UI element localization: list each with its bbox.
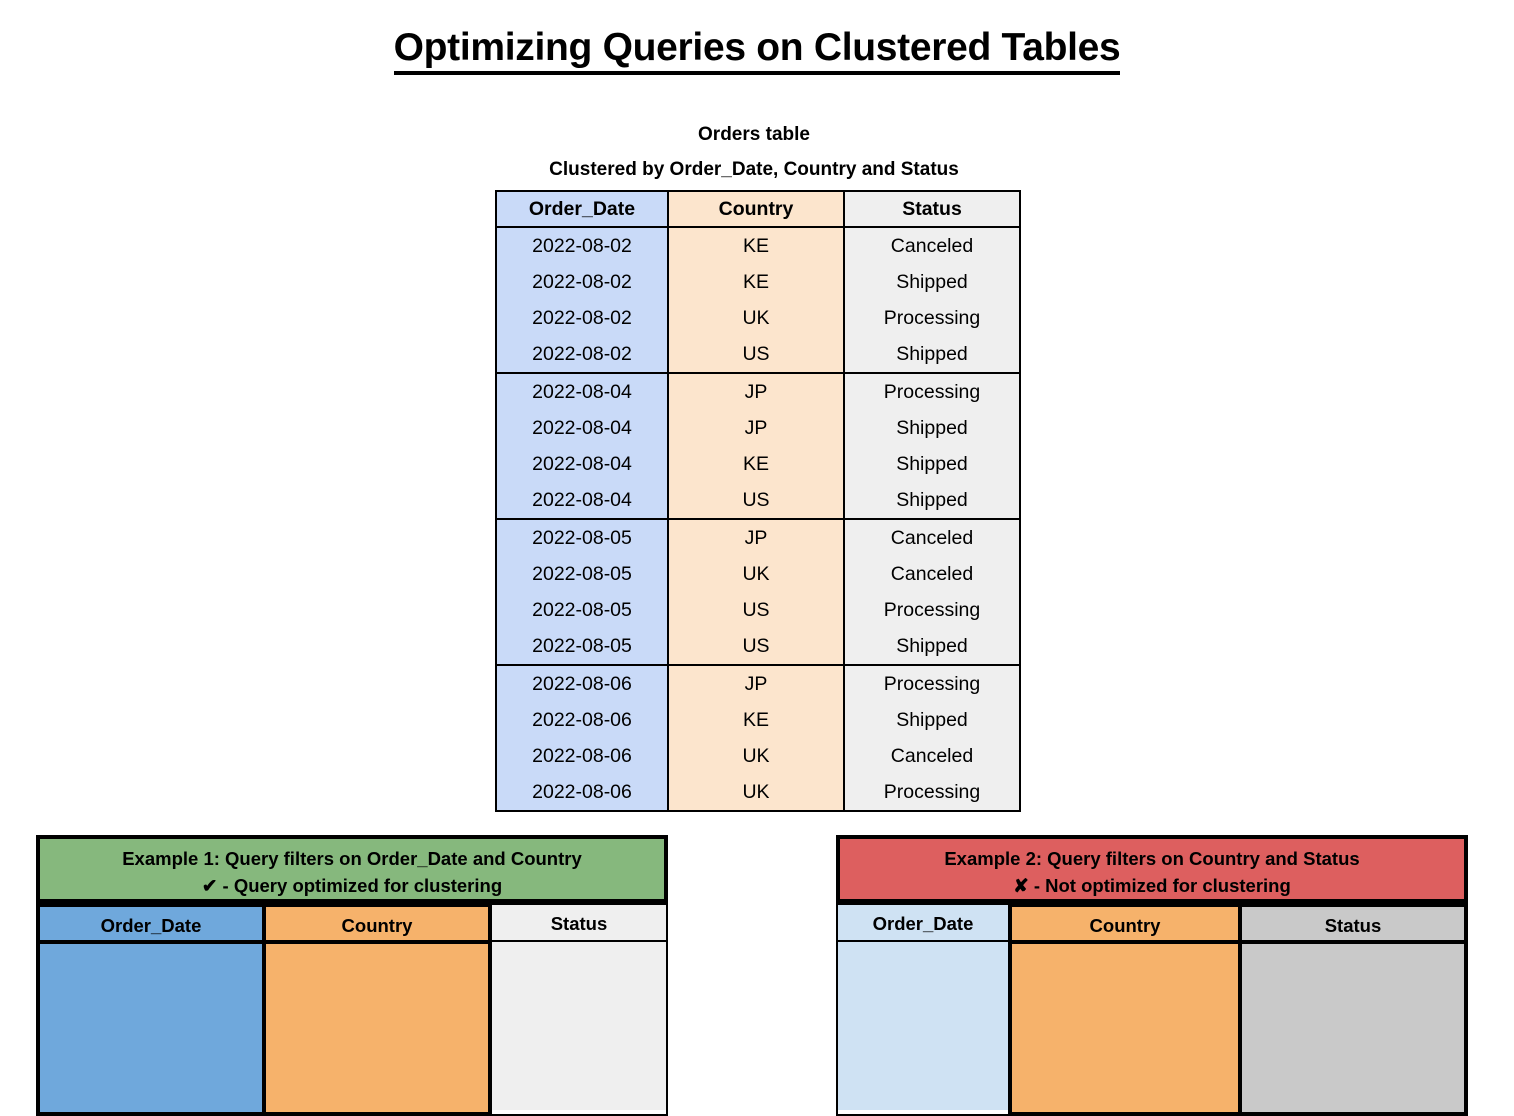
cell-country: KE bbox=[668, 446, 844, 482]
cell-country: UK bbox=[668, 556, 844, 592]
example-1-column-order-date: Order_Date bbox=[36, 903, 264, 1116]
cell-order-date: 2022-08-05 bbox=[496, 592, 668, 628]
cell-order-date: 2022-08-06 bbox=[496, 774, 668, 811]
cell-status: Processing bbox=[844, 774, 1020, 811]
example-2-column-body-country bbox=[1012, 944, 1238, 1112]
cell-country: JP bbox=[668, 519, 844, 556]
cell-status: Shipped bbox=[844, 336, 1020, 373]
example-1-column-body-country bbox=[266, 944, 488, 1112]
orders-table-caption: Orders table bbox=[495, 122, 1013, 148]
cell-status: Canceled bbox=[844, 556, 1020, 592]
example-2-column-status: Status bbox=[1240, 903, 1468, 1116]
example-1-column-body-status bbox=[492, 942, 666, 1110]
cell-order-date: 2022-08-04 bbox=[496, 446, 668, 482]
cell-status: Processing bbox=[844, 592, 1020, 628]
example-1-column-status: Status bbox=[492, 903, 668, 1116]
example-1-header-line2: ✔ - Query optimized for clustering bbox=[44, 872, 660, 899]
cell-status: Shipped bbox=[844, 264, 1020, 300]
example-2-column-header-status: Status bbox=[1242, 907, 1464, 944]
cell-status: Canceled bbox=[844, 227, 1020, 264]
table-row: 2022-08-06UKCanceled bbox=[496, 738, 1020, 774]
example-1-column-body-order-date bbox=[40, 944, 262, 1112]
cell-order-date: 2022-08-06 bbox=[496, 738, 668, 774]
example-2-header-line2-text: - Not optimized for clustering bbox=[1034, 875, 1291, 896]
cell-status: Shipped bbox=[844, 628, 1020, 665]
cross-icon: ✘ bbox=[1013, 875, 1029, 896]
cell-country: JP bbox=[668, 410, 844, 446]
cell-country: KE bbox=[668, 227, 844, 264]
table-row: 2022-08-06JPProcessing bbox=[496, 665, 1020, 702]
table-row: 2022-08-05USProcessing bbox=[496, 592, 1020, 628]
table-row: 2022-08-02KEShipped bbox=[496, 264, 1020, 300]
column-header-order-date: Order_Date bbox=[496, 191, 668, 227]
example-2-header: Example 2: Query filters on Country and … bbox=[836, 835, 1468, 903]
example-2-column-header-order-date: Order_Date bbox=[838, 905, 1008, 942]
example-1-block: Example 1: Query filters on Order_Date a… bbox=[36, 835, 668, 1116]
cell-country: KE bbox=[668, 702, 844, 738]
example-2-header-line2: ✘ - Not optimized for clustering bbox=[844, 872, 1460, 899]
table-row: 2022-08-04USShipped bbox=[496, 482, 1020, 519]
cell-status: Shipped bbox=[844, 446, 1020, 482]
column-header-country: Country bbox=[668, 191, 844, 227]
example-2-column-country: Country bbox=[1008, 903, 1240, 1116]
example-1-header-line1: Example 1: Query filters on Order_Date a… bbox=[44, 845, 660, 872]
table-row: 2022-08-06UKProcessing bbox=[496, 774, 1020, 811]
cell-country: JP bbox=[668, 373, 844, 410]
cell-status: Processing bbox=[844, 373, 1020, 410]
cell-order-date: 2022-08-02 bbox=[496, 227, 668, 264]
example-2-column-order-date: Order_Date bbox=[836, 903, 1008, 1116]
table-row: 2022-08-02KECanceled bbox=[496, 227, 1020, 264]
cell-order-date: 2022-08-05 bbox=[496, 556, 668, 592]
example-1-column-header-status: Status bbox=[492, 905, 666, 942]
cell-country: UK bbox=[668, 300, 844, 336]
example-1-header-line2-text: - Query optimized for clustering bbox=[223, 875, 503, 896]
cell-order-date: 2022-08-02 bbox=[496, 336, 668, 373]
orders-table: Order_Date Country Status 2022-08-02KECa… bbox=[495, 190, 1021, 812]
cell-country: UK bbox=[668, 738, 844, 774]
example-1-column-header-order-date: Order_Date bbox=[40, 907, 262, 944]
column-header-status: Status bbox=[844, 191, 1020, 227]
cell-status: Canceled bbox=[844, 519, 1020, 556]
example-2-table: Order_Date Country Status bbox=[836, 903, 1468, 1116]
check-icon: ✔ bbox=[202, 875, 218, 896]
cell-country: JP bbox=[668, 665, 844, 702]
cell-order-date: 2022-08-05 bbox=[496, 628, 668, 665]
cell-order-date: 2022-08-02 bbox=[496, 264, 668, 300]
orders-table-body: 2022-08-02KECanceled2022-08-02KEShipped2… bbox=[496, 227, 1020, 811]
cell-country: US bbox=[668, 592, 844, 628]
cell-status: Processing bbox=[844, 300, 1020, 336]
cell-order-date: 2022-08-06 bbox=[496, 702, 668, 738]
table-row: 2022-08-04JPProcessing bbox=[496, 373, 1020, 410]
cell-status: Shipped bbox=[844, 410, 1020, 446]
example-1-table: Order_Date Country Status bbox=[36, 903, 668, 1116]
cell-status: Shipped bbox=[844, 482, 1020, 519]
cell-order-date: 2022-08-02 bbox=[496, 300, 668, 336]
table-row: 2022-08-02UKProcessing bbox=[496, 300, 1020, 336]
table-row: 2022-08-04KEShipped bbox=[496, 446, 1020, 482]
cell-status: Processing bbox=[844, 665, 1020, 702]
page-title: Optimizing Queries on Clustered Tables bbox=[0, 26, 1514, 70]
cell-order-date: 2022-08-06 bbox=[496, 665, 668, 702]
table-row: 2022-08-05UKCanceled bbox=[496, 556, 1020, 592]
cell-country: UK bbox=[668, 774, 844, 811]
example-1-header: Example 1: Query filters on Order_Date a… bbox=[36, 835, 668, 903]
example-2-block: Example 2: Query filters on Country and … bbox=[836, 835, 1468, 1116]
cell-country: KE bbox=[668, 264, 844, 300]
example-2-column-body-status bbox=[1242, 944, 1464, 1112]
table-row: 2022-08-05JPCanceled bbox=[496, 519, 1020, 556]
cell-country: US bbox=[668, 482, 844, 519]
cell-order-date: 2022-08-04 bbox=[496, 410, 668, 446]
cell-status: Canceled bbox=[844, 738, 1020, 774]
orders-table-header-row: Order_Date Country Status bbox=[496, 191, 1020, 227]
example-2-column-body-order-date bbox=[838, 942, 1008, 1110]
cell-country: US bbox=[668, 628, 844, 665]
orders-table-subcaption: Clustered by Order_Date, Country and Sta… bbox=[495, 157, 1013, 183]
table-row: 2022-08-02USShipped bbox=[496, 336, 1020, 373]
cell-order-date: 2022-08-04 bbox=[496, 373, 668, 410]
page-title-text: Optimizing Queries on Clustered Tables bbox=[394, 26, 1121, 75]
cell-order-date: 2022-08-05 bbox=[496, 519, 668, 556]
table-row: 2022-08-04JPShipped bbox=[496, 410, 1020, 446]
example-1-column-header-country: Country bbox=[266, 907, 488, 944]
cell-order-date: 2022-08-04 bbox=[496, 482, 668, 519]
cell-country: US bbox=[668, 336, 844, 373]
example-2-header-line1: Example 2: Query filters on Country and … bbox=[844, 845, 1460, 872]
example-2-column-header-country: Country bbox=[1012, 907, 1238, 944]
table-row: 2022-08-05USShipped bbox=[496, 628, 1020, 665]
example-1-column-country: Country bbox=[264, 903, 492, 1116]
cell-status: Shipped bbox=[844, 702, 1020, 738]
table-row: 2022-08-06KEShipped bbox=[496, 702, 1020, 738]
orders-table-block: Orders table Clustered by Order_Date, Co… bbox=[495, 122, 1013, 812]
